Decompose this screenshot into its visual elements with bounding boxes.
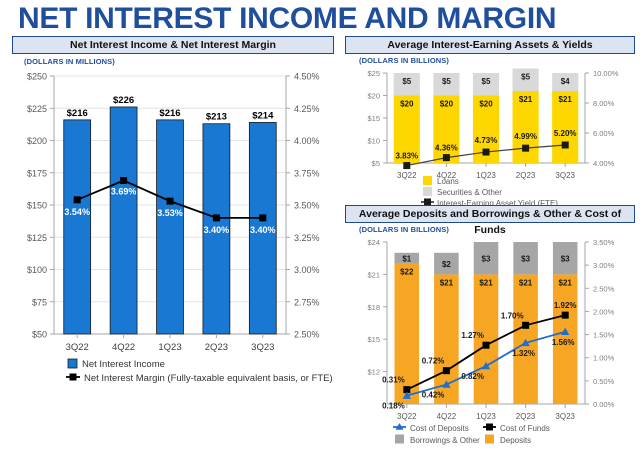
chart-net-interest-income: $50$75$100$125$150$175$200$225$2502.50%2… bbox=[12, 66, 334, 396]
panel-header-interest-earning-assets: Average Interest-Earning Assets & Yields bbox=[345, 36, 635, 54]
y-axis-tick-right: 2.50% bbox=[294, 330, 320, 340]
y-axis-tick-left: $225 bbox=[27, 104, 47, 114]
line-marker-nim bbox=[213, 214, 220, 221]
line-marker-yield bbox=[403, 162, 410, 169]
legend-label-borrowings-other: Borrowings & Other bbox=[410, 436, 480, 445]
bar-value-label: $216 bbox=[159, 108, 180, 119]
line-value-label-cost-of-funds: 1.92% bbox=[554, 301, 577, 310]
bar-value-label: $226 bbox=[113, 95, 134, 106]
y-axis-tick-right: 3.50% bbox=[294, 201, 320, 211]
panel-net-interest-income: Net Interest Income & Net Interest Margi… bbox=[12, 36, 334, 396]
legend-swatch-securities-other bbox=[423, 187, 432, 196]
line-value-label: 3.53% bbox=[157, 208, 183, 218]
y-axis-tick-left: $12 bbox=[367, 368, 380, 377]
x-axis-category-label: 2Q23 bbox=[205, 342, 228, 353]
y-axis-tick-left: $21 bbox=[367, 270, 380, 279]
y-axis-tick-right: 3.00% bbox=[593, 261, 615, 270]
bar-net-interest-income bbox=[157, 120, 184, 334]
bar-value-label-loans: $21 bbox=[559, 95, 573, 104]
bar-net-interest-income bbox=[110, 107, 137, 334]
y-axis-tick-right: 4.25% bbox=[294, 104, 320, 114]
x-axis-category-label: 3Q22 bbox=[397, 412, 417, 421]
legend-swatch-net-interest-margin bbox=[70, 374, 77, 381]
legend-swatch-net-interest-income bbox=[68, 359, 77, 368]
line-marker-nim bbox=[74, 196, 81, 203]
y-axis-tick-left: $15 bbox=[367, 114, 380, 123]
line-value-label: 3.54% bbox=[64, 207, 90, 217]
x-axis-category-label: 3Q22 bbox=[66, 342, 89, 353]
line-marker-cost-of-funds bbox=[522, 322, 529, 329]
line-value-label-cost-of-deposits: 1.32% bbox=[512, 349, 535, 358]
x-axis-category-label: 1Q23 bbox=[476, 412, 496, 421]
bar-value-label-securities: $5 bbox=[482, 77, 491, 86]
chart-interest-earning-assets: $5$10$15$20$254.00%6.00%8.00%10.00%$5$20… bbox=[345, 65, 635, 205]
y-axis-tick-left: $5 bbox=[372, 159, 380, 168]
bar-value-label: $216 bbox=[67, 108, 88, 119]
line-value-label-cost-of-funds: 0.72% bbox=[422, 357, 445, 366]
line-value-label-yield: 3.83% bbox=[395, 152, 418, 161]
bar-value-label-securities: $4 bbox=[561, 77, 570, 86]
bar-value-label-borrowings: $3 bbox=[482, 255, 491, 264]
legend-label-loans: Loans bbox=[437, 177, 459, 186]
y-axis-tick-right: 6.00% bbox=[593, 129, 615, 138]
units-label-millions: (DOLLARS IN MILLIONS) bbox=[24, 57, 334, 66]
bar-value-label-borrowings: $3 bbox=[521, 255, 530, 264]
bar-value-label: $213 bbox=[206, 112, 227, 123]
x-axis-category-label: 4Q22 bbox=[437, 412, 457, 421]
bar-value-label-loans: $20 bbox=[400, 100, 414, 109]
y-axis-tick-left: $75 bbox=[32, 297, 47, 307]
y-axis-tick-right: 4.50% bbox=[294, 72, 320, 82]
y-axis-tick-left: $24 bbox=[367, 238, 380, 247]
y-axis-tick-left: $250 bbox=[27, 72, 47, 82]
bar-value-label: $214 bbox=[252, 110, 274, 121]
bar-value-label-borrowings: $2 bbox=[442, 260, 451, 269]
bar-value-label-securities: $5 bbox=[442, 77, 451, 86]
bar-value-label-loans: $21 bbox=[519, 95, 533, 104]
y-axis-tick-left: $25 bbox=[367, 69, 380, 78]
y-axis-tick-left: $20 bbox=[367, 92, 380, 101]
y-axis-tick-right: 3.75% bbox=[294, 168, 320, 178]
bar-value-label-loans: $20 bbox=[479, 100, 493, 109]
line-marker-nim bbox=[259, 214, 266, 221]
panel-header-deposits-borrowings: Average Deposits and Borrowings & Other … bbox=[345, 205, 635, 223]
line-value-label-cost-of-funds: 1.27% bbox=[461, 331, 484, 340]
legend-swatch-loans bbox=[423, 176, 432, 185]
y-axis-tick-right: 0.50% bbox=[593, 377, 615, 386]
line-value-label-cost-of-funds: 1.70% bbox=[501, 311, 524, 320]
line-value-label-cost-of-deposits: 0.82% bbox=[461, 372, 484, 381]
line-marker-cost-of-funds bbox=[483, 342, 490, 349]
y-axis-tick-right: 3.25% bbox=[294, 233, 320, 243]
y-axis-tick-left: $100 bbox=[27, 265, 47, 275]
x-axis-category-label: 3Q23 bbox=[555, 171, 575, 180]
line-marker-nim bbox=[120, 177, 127, 184]
line-value-label-cost-of-deposits: 0.18% bbox=[382, 402, 405, 411]
bar-value-label-borrowings: $3 bbox=[561, 255, 570, 264]
x-axis-category-label: 3Q23 bbox=[555, 412, 575, 421]
bar-value-label-deposits: $22 bbox=[400, 268, 414, 277]
line-marker-cost-of-funds bbox=[562, 312, 569, 319]
y-axis-tick-right: 8.00% bbox=[593, 99, 615, 108]
y-axis-tick-left: $10 bbox=[367, 137, 380, 146]
line-value-label: 3.40% bbox=[204, 225, 230, 235]
y-axis-tick-right: 10.00% bbox=[593, 69, 619, 78]
bar-value-label-loans: $20 bbox=[440, 100, 454, 109]
page-title: NET INTEREST INCOME AND MARGIN bbox=[18, 2, 556, 36]
bar-value-label-borrowings: $1 bbox=[402, 255, 411, 264]
legend-label-cost-of-deposits: Cost of Deposits bbox=[410, 424, 469, 433]
bar-value-label-securities: $5 bbox=[521, 73, 530, 82]
y-axis-tick-left: $125 bbox=[27, 233, 47, 243]
bar-value-label-deposits: $21 bbox=[479, 278, 493, 287]
line-value-label: 3.40% bbox=[250, 225, 276, 235]
line-marker-yield bbox=[562, 142, 569, 149]
bar-value-label-deposits: $21 bbox=[519, 278, 533, 287]
y-axis-tick-right: 2.00% bbox=[593, 307, 615, 316]
x-axis-category-label: 3Q22 bbox=[397, 171, 417, 180]
y-axis-tick-left: $15 bbox=[367, 335, 380, 344]
y-axis-tick-right: 3.00% bbox=[294, 265, 320, 275]
x-axis-category-label: 2Q23 bbox=[516, 171, 536, 180]
y-axis-tick-left: $18 bbox=[367, 303, 380, 312]
x-axis-category-label: 1Q23 bbox=[158, 342, 181, 353]
legend-label-net-interest-income: Net Interest Income bbox=[82, 359, 165, 370]
bar-net-interest-income bbox=[64, 120, 91, 334]
y-axis-tick-right: 2.50% bbox=[593, 284, 615, 293]
line-marker-yield bbox=[443, 154, 450, 161]
legend-label-securities-other: Securities & Other bbox=[437, 188, 502, 197]
y-axis-tick-right: 1.00% bbox=[593, 354, 615, 363]
x-axis-category-label: 1Q23 bbox=[476, 171, 496, 180]
line-value-label-yield: 4.99% bbox=[514, 132, 537, 141]
y-axis-tick-left: $50 bbox=[32, 330, 47, 340]
legend-label-net-interest-margin: Net Interest Margin (Fully-taxable equiv… bbox=[84, 373, 333, 384]
legend-swatch-borrowings-other bbox=[395, 435, 404, 444]
bar-value-label-deposits: $21 bbox=[440, 278, 454, 287]
line-value-label-yield: 4.73% bbox=[475, 136, 498, 145]
line-marker-yield bbox=[483, 149, 490, 156]
line-value-label-cost-of-funds: 0.31% bbox=[382, 376, 405, 385]
legend-swatch-deposits bbox=[485, 435, 494, 444]
line-value-label-yield: 5.20% bbox=[554, 129, 577, 138]
line-marker-yield bbox=[522, 145, 529, 152]
panel-header-net-interest-income: Net Interest Income & Net Interest Margi… bbox=[12, 36, 334, 54]
y-axis-tick-left: $175 bbox=[27, 168, 47, 178]
y-axis-tick-right: 0.00% bbox=[593, 400, 615, 409]
line-value-label-cost-of-deposits: 0.42% bbox=[422, 391, 445, 400]
y-axis-tick-left: $200 bbox=[27, 136, 47, 146]
chart-deposits-borrowings: $12$15$18$21$240.00%0.50%1.00%1.50%2.00%… bbox=[345, 234, 635, 456]
units-label-billions-assets: (DOLLARS IN BILLIONS) bbox=[359, 56, 635, 65]
bar-value-label-deposits: $21 bbox=[559, 278, 573, 287]
y-axis-tick-right: 1.50% bbox=[593, 331, 615, 340]
x-axis-category-label: 4Q22 bbox=[112, 342, 135, 353]
line-value-label-cost-of-deposits: 1.56% bbox=[552, 338, 575, 347]
line-marker-cost-of-funds bbox=[443, 367, 450, 374]
x-axis-category-label: 2Q23 bbox=[516, 412, 536, 421]
y-axis-tick-right: 3.50% bbox=[593, 238, 615, 247]
bar-value-label-securities: $5 bbox=[402, 77, 411, 86]
panel-interest-earning-assets: Average Interest-Earning Assets & Yields… bbox=[345, 36, 635, 205]
legend-label-cost-of-funds: Cost of Funds bbox=[500, 424, 550, 433]
line-marker-nim bbox=[167, 198, 174, 205]
y-axis-tick-left: $150 bbox=[27, 201, 47, 211]
y-axis-tick-right: 4.00% bbox=[593, 159, 615, 168]
line-value-label-yield: 4.36% bbox=[435, 144, 458, 153]
legend-swatch-cost-of-funds bbox=[486, 424, 493, 431]
panel-deposits-borrowings: Average Deposits and Borrowings & Other … bbox=[345, 205, 635, 456]
y-axis-tick-right: 2.75% bbox=[294, 297, 320, 307]
line-value-label: 3.69% bbox=[111, 186, 137, 196]
x-axis-category-label: 3Q23 bbox=[251, 342, 274, 353]
legend-label-deposits: Deposits bbox=[500, 436, 531, 445]
y-axis-tick-right: 4.00% bbox=[294, 136, 320, 146]
